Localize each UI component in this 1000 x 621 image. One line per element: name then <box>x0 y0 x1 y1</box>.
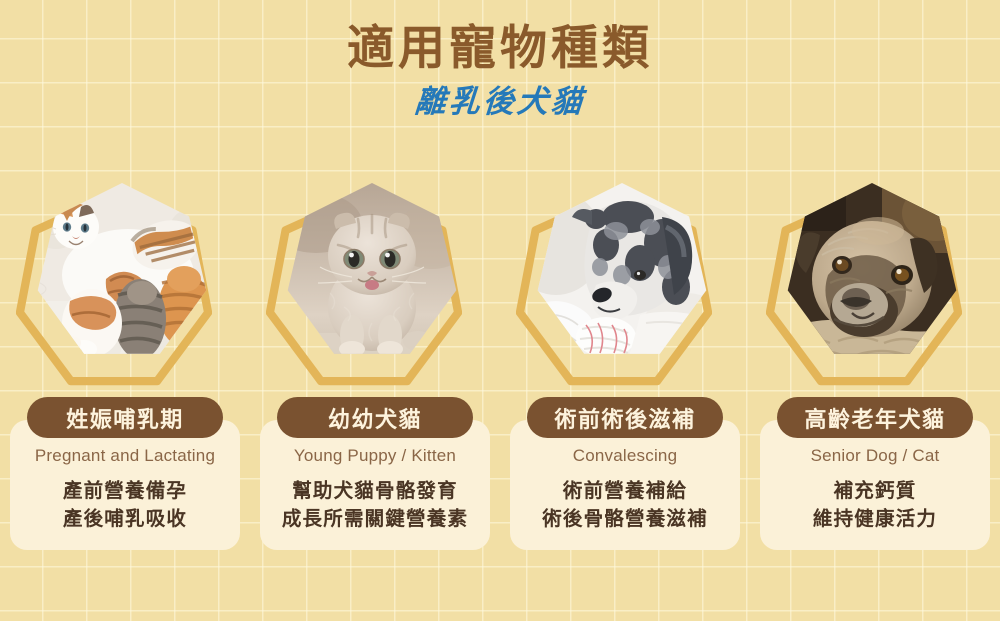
badge-pregnant-lactating[interactable]: 姓娠哺乳期 <box>27 397 223 438</box>
card-description-line: 成長所需關鍵營養素 <box>282 505 468 533</box>
card-description-line: 補充鈣質 <box>834 477 917 505</box>
photo-mother-cat-nursing-kittens <box>36 183 208 359</box>
card-description-line: 術後骨骼營養滋補 <box>542 505 708 533</box>
card-english-label: Young Puppy / Kitten <box>294 446 456 466</box>
card-panel: Young Puppy / Kitten 幫助犬貓骨骼發育 成長所需關鍵營養素 <box>260 420 490 550</box>
badge-label: 幼幼犬貓 <box>328 402 422 434</box>
photo-senior-pug-resting <box>786 183 958 359</box>
photo-merle-dog-bandaged-paw <box>536 183 708 359</box>
badge-senior-dog-cat[interactable]: 高齡老年犬貓 <box>777 397 973 438</box>
badge-label: 姓娠哺乳期 <box>66 402 184 434</box>
photo-frame <box>760 183 990 391</box>
page-subtitle: 離乳後犬貓 <box>0 77 1000 121</box>
pet-type-card[interactable]: 幼幼犬貓 Young Puppy / Kitten 幫助犬貓骨骼發育 成長所需關… <box>255 183 495 603</box>
photo-frame <box>10 183 240 391</box>
card-panel: Convalescing 術前營養補給 術後骨骼營養滋補 <box>510 420 740 550</box>
photo-frame <box>510 183 740 391</box>
photo-scottish-fold-kitten <box>286 183 458 359</box>
header: 適用寵物種類 離乳後犬貓 <box>0 0 1000 121</box>
badge-convalescing[interactable]: 術前術後滋補 <box>527 397 723 438</box>
card-description-line: 產前營養備孕 <box>63 477 187 505</box>
pet-type-card-list: 姓娠哺乳期 Pregnant and Lactating 產前營養備孕 產後哺乳… <box>0 183 1000 603</box>
pet-type-card[interactable]: 術前術後滋補 Convalescing 術前營養補給 術後骨骼營養滋補 <box>505 183 745 603</box>
card-english-label: Senior Dog / Cat <box>811 446 940 466</box>
card-description-line: 產後哺乳吸收 <box>63 505 187 533</box>
badge-label: 術前術後滋補 <box>554 402 695 434</box>
card-panel: Pregnant and Lactating 產前營養備孕 產後哺乳吸收 <box>10 420 240 550</box>
pet-type-card[interactable]: 高齡老年犬貓 Senior Dog / Cat 補充鈣質 維持健康活力 <box>755 183 995 603</box>
pet-type-card[interactable]: 姓娠哺乳期 Pregnant and Lactating 產前營養備孕 產後哺乳… <box>5 183 245 603</box>
card-english-label: Pregnant and Lactating <box>35 446 215 466</box>
badge-label: 高齡老年犬貓 <box>804 402 945 434</box>
page-title: 適用寵物種類 <box>0 0 1000 77</box>
photo-frame <box>260 183 490 391</box>
card-panel: Senior Dog / Cat 補充鈣質 維持健康活力 <box>760 420 990 550</box>
card-description-line: 術前營養補給 <box>563 477 687 505</box>
badge-young-puppy-kitten[interactable]: 幼幼犬貓 <box>277 397 473 438</box>
card-description-line: 幫助犬貓骨骼發育 <box>292 477 458 505</box>
card-description-line: 維持健康活力 <box>813 505 937 533</box>
card-english-label: Convalescing <box>573 446 677 466</box>
